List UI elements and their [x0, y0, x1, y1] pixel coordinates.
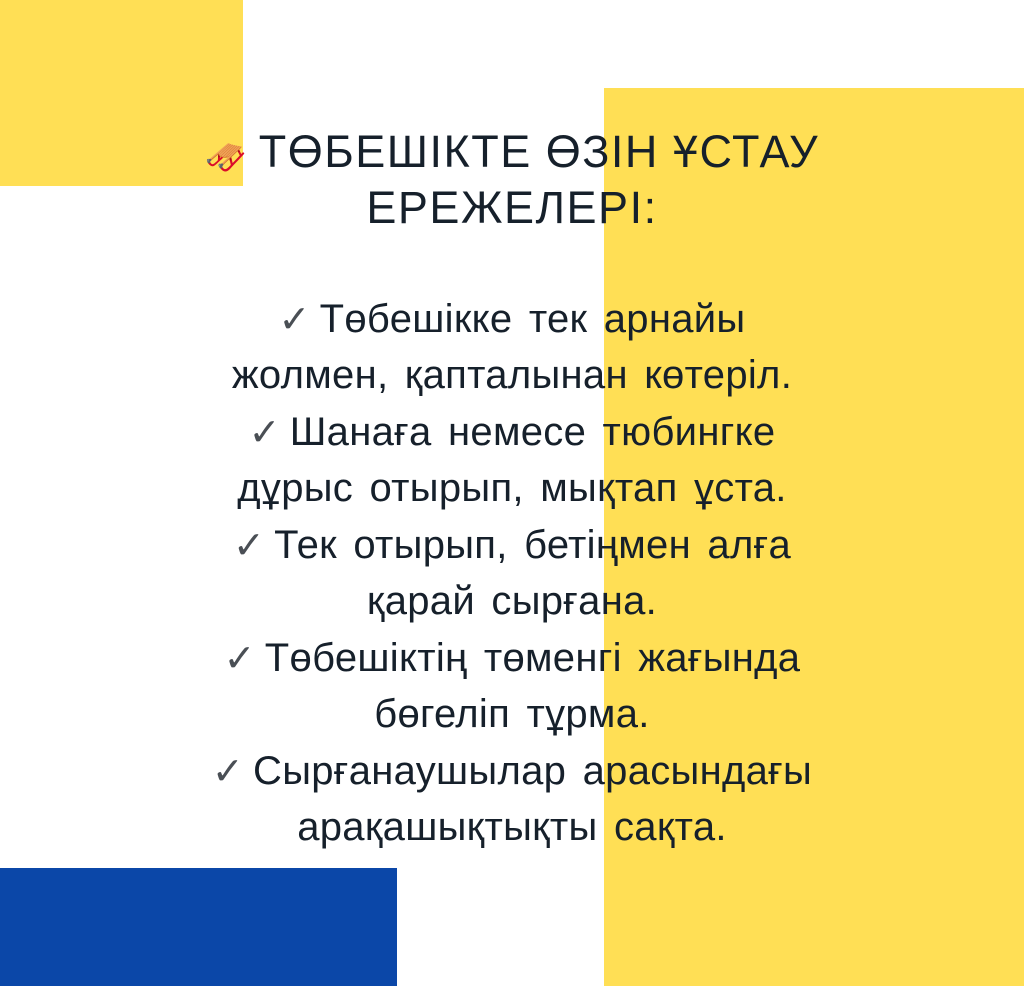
title-text-line-one: ТӨБЕШІКТЕ ӨЗІН ҰСТАУ [259, 126, 819, 177]
list-item: ✓Шанаға немесе тюбингке дұрыс отырып, мы… [0, 405, 1024, 516]
title-text-line-two: ЕРЕЖЕЛЕРІ: [0, 180, 1024, 236]
rule-text: Тек отырып, бетіңмен алға [274, 523, 791, 567]
page-title: 🛷ТӨБЕШІКТЕ ӨЗІН ҰСТАУ ЕРЕЖЕЛЕРІ: [0, 124, 1024, 236]
rule-line-two: дұрыс отырып, мықтап ұста. [0, 461, 1024, 516]
rule-text: Шанаға немесе тюбингке [290, 410, 776, 454]
sled-icon: 🛷 [205, 139, 249, 177]
rule-line-one: ✓Төбешікке тек арнайы [0, 292, 1024, 348]
rule-line-one: ✓Төбешіктің төменгі жағында [0, 631, 1024, 687]
rule-line-one: ✓Шанаға немесе тюбингке [0, 405, 1024, 461]
rules-list: ✓Төбешікке тек арнайы жолмен, қапталынан… [0, 292, 1024, 857]
rule-line-two: бөгеліп тұрма. [0, 687, 1024, 742]
rule-line-two: арақашықтықты сақта. [0, 800, 1024, 855]
rule-line-two: жолмен, қапталынан көтеріл. [0, 348, 1024, 403]
list-item: ✓Тек отырып, бетіңмен алға қарай сырғана… [0, 518, 1024, 629]
check-icon: ✓ [224, 638, 256, 680]
list-item: ✓Төбешіктің төменгі жағында бөгеліп тұрм… [0, 631, 1024, 742]
title-line-one: 🛷ТӨБЕШІКТЕ ӨЗІН ҰСТАУ [0, 124, 1024, 180]
list-item: ✓Төбешікке тек арнайы жолмен, қапталынан… [0, 292, 1024, 403]
check-icon: ✓ [233, 525, 265, 567]
rule-line-two: қарай сырғана. [0, 574, 1024, 629]
safety-rules-poster: 🛷ТӨБЕШІКТЕ ӨЗІН ҰСТАУ ЕРЕЖЕЛЕРІ: ✓Төбеші… [0, 0, 1024, 986]
rule-line-one: ✓Тек отырып, бетіңмен алға [0, 518, 1024, 574]
rule-line-one: ✓Сырғанаушылар арасындағы [0, 744, 1024, 800]
rule-text: Төбешіктің төменгі жағында [265, 636, 801, 680]
check-icon: ✓ [212, 751, 244, 793]
rule-text: Сырғанаушылар арасындағы [253, 749, 812, 793]
check-icon: ✓ [249, 412, 281, 454]
poster-content: 🛷ТӨБЕШІКТЕ ӨЗІН ҰСТАУ ЕРЕЖЕЛЕРІ: ✓Төбеші… [0, 0, 1024, 986]
check-icon: ✓ [279, 299, 311, 341]
rule-text: Төбешікке тек арнайы [320, 297, 746, 341]
list-item: ✓Сырғанаушылар арасындағы арақашықтықты … [0, 744, 1024, 855]
